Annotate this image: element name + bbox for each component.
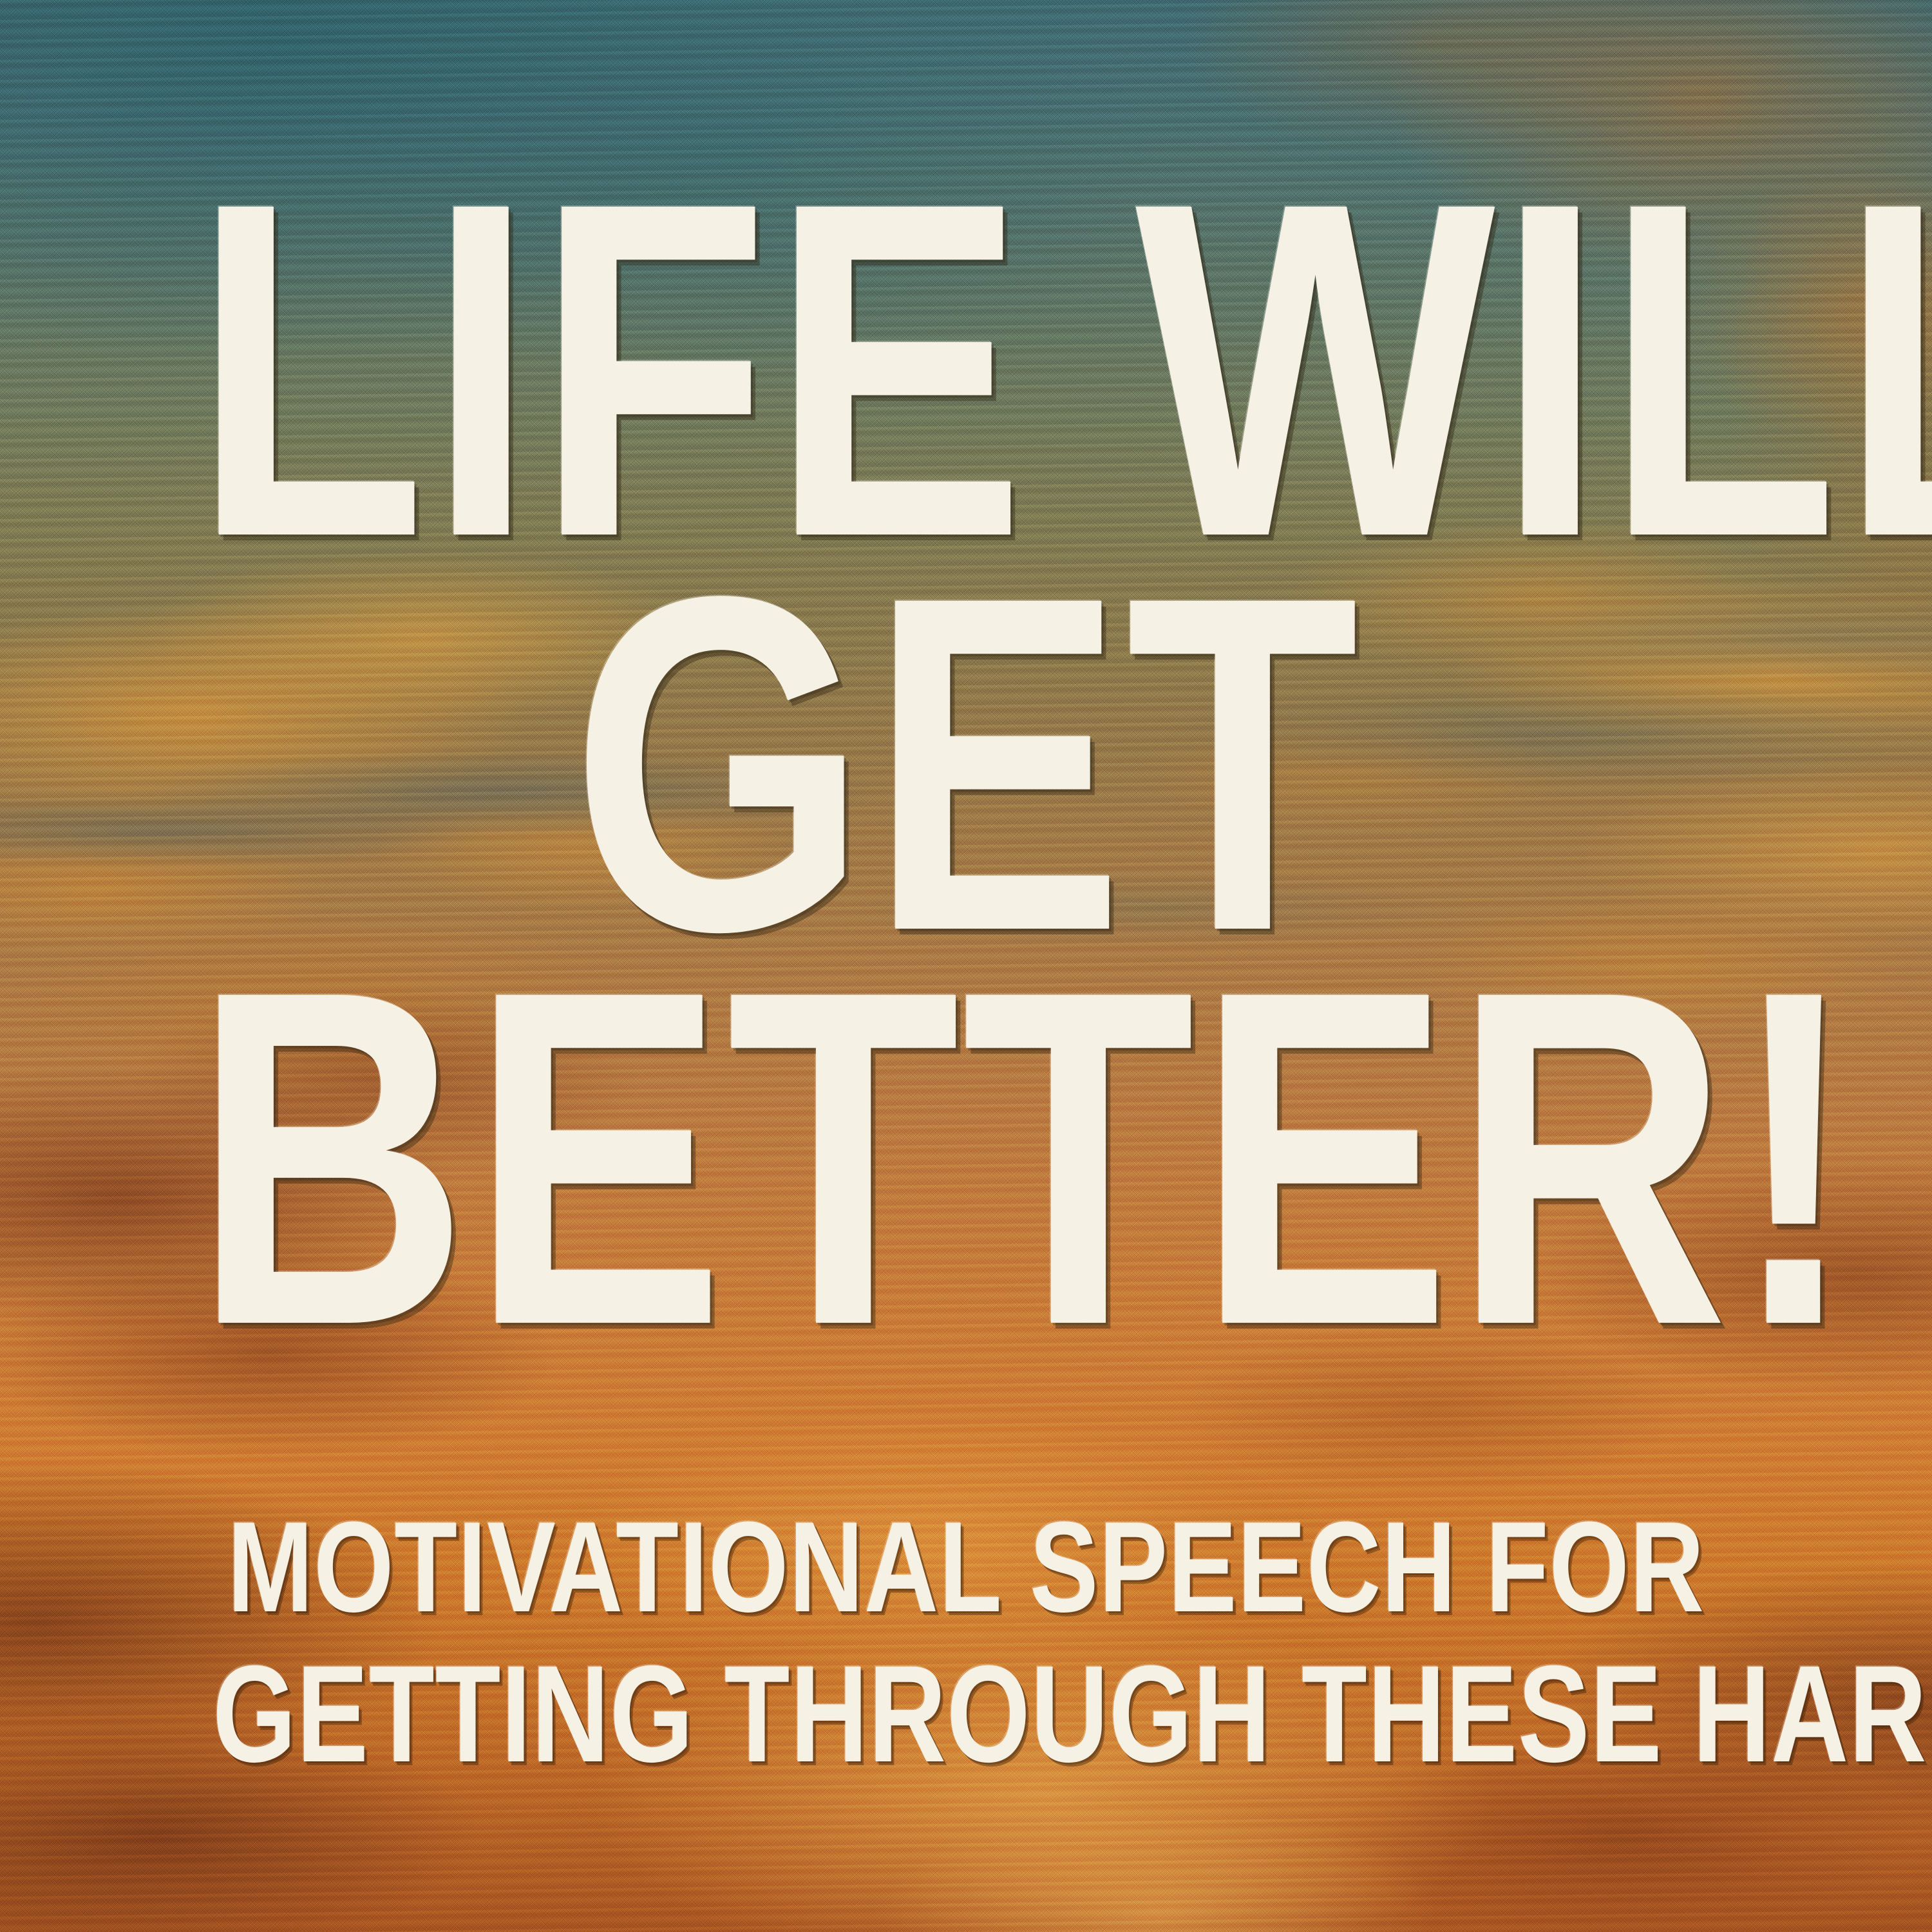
- subtitle-line-2: GETTING THROUGH THESE HARD TIME: [213, 1641, 1719, 1788]
- subtitle-block: MOTIVATIONAL SPEECH FOR GETTING THROUGH …: [0, 1494, 1932, 1788]
- headline-line-3: BETTER!: [193, 961, 1739, 1355]
- subtitle-line-1: MOTIVATIONAL SPEECH FOR: [193, 1494, 1739, 1641]
- poster-canvas: LIFE WILL GET BETTER! MOTIVATIONAL SPEEC…: [0, 0, 1932, 1932]
- poster-content: LIFE WILL GET BETTER! MOTIVATIONAL SPEEC…: [0, 0, 1932, 1932]
- headline-block: LIFE WILL GET BETTER!: [0, 173, 1932, 1355]
